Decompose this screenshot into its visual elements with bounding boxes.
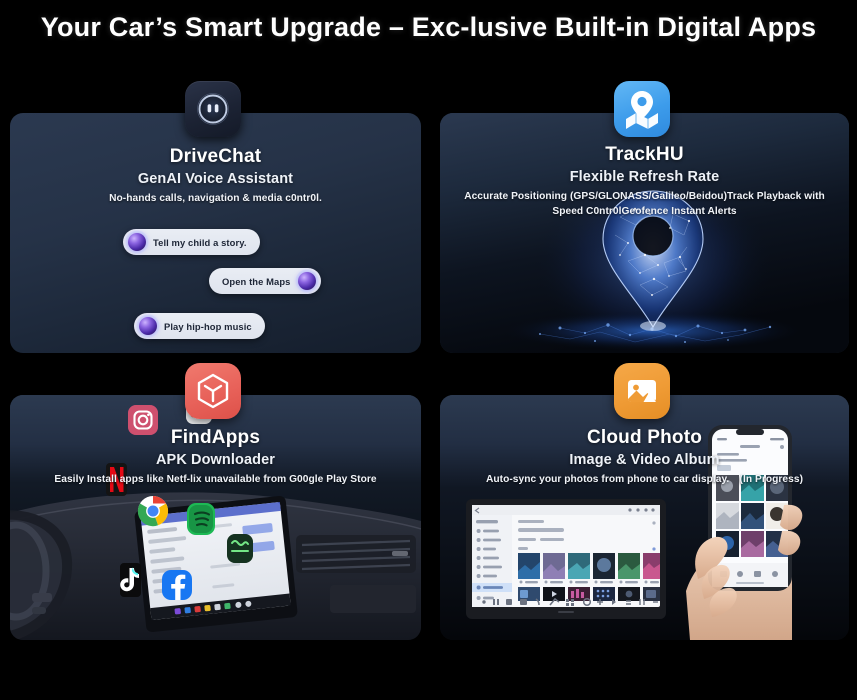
chat-bubble[interactable]: Open the Maps: [209, 268, 321, 294]
chat-bubble-text: Play hip-hop music: [164, 321, 252, 332]
findapps-title: FindApps: [10, 427, 421, 449]
cube-box-icon[interactable]: [185, 363, 241, 419]
trackhu-description: Accurate Positioning (GPS/GLONASS/Galile…: [440, 190, 849, 220]
findapps-subtitle: APK Downloader: [10, 452, 421, 468]
card-cloud-photo[interactable]: Cloud Photo Image & Video Album Auto-syn…: [440, 395, 849, 640]
chat-bubble[interactable]: Play hip-hop music: [134, 313, 265, 339]
promo-page: Your Car’s Smart Upgrade – Exc-lusive Bu…: [0, 0, 857, 700]
assistant-orb-icon: [298, 272, 316, 290]
photo-image-icon[interactable]: [614, 363, 670, 419]
map-pin-icon[interactable]: [614, 81, 670, 137]
page-title: Your Car’s Smart Upgrade – Exc-lusive Bu…: [0, 12, 857, 43]
assistant-orb-icon: [139, 317, 157, 335]
smiley-face-icon[interactable]: [185, 81, 241, 137]
trackhu-subtitle: Flexible Refresh Rate: [440, 169, 849, 185]
chat-bubble-text: Open the Maps: [222, 276, 291, 287]
drivechat-description: No-hands calls, navigation & media c0ntr…: [10, 192, 421, 207]
card-drivechat[interactable]: DriveChat GenAI Voice Assistant No-hands…: [10, 113, 421, 353]
findapps-description: Easily Install apps like Netf-lix unavai…: [10, 473, 421, 488]
cloud-photo-description: Auto-sync your photos from phone to car …: [440, 473, 849, 488]
trackhu-title: TrackHU: [440, 144, 849, 166]
drivechat-subtitle: GenAI Voice Assistant: [10, 171, 421, 187]
cloud-photo-subtitle: Image & Video Album: [440, 452, 849, 468]
chat-bubble-text: Tell my child a story.: [153, 237, 247, 248]
cloud-photo-title: Cloud Photo: [440, 427, 849, 449]
assistant-orb-icon: [128, 233, 146, 251]
drivechat-chat-bubbles: Tell my child a story. Open the Maps Pla…: [10, 229, 421, 349]
drivechat-title: DriveChat: [10, 146, 421, 168]
card-findapps[interactable]: FindApps APK Downloader Easily Install a…: [10, 395, 421, 640]
chat-bubble[interactable]: Tell my child a story.: [123, 229, 260, 255]
card-trackhu[interactable]: TrackHU Flexible Refresh Rate Accurate P…: [440, 113, 849, 353]
